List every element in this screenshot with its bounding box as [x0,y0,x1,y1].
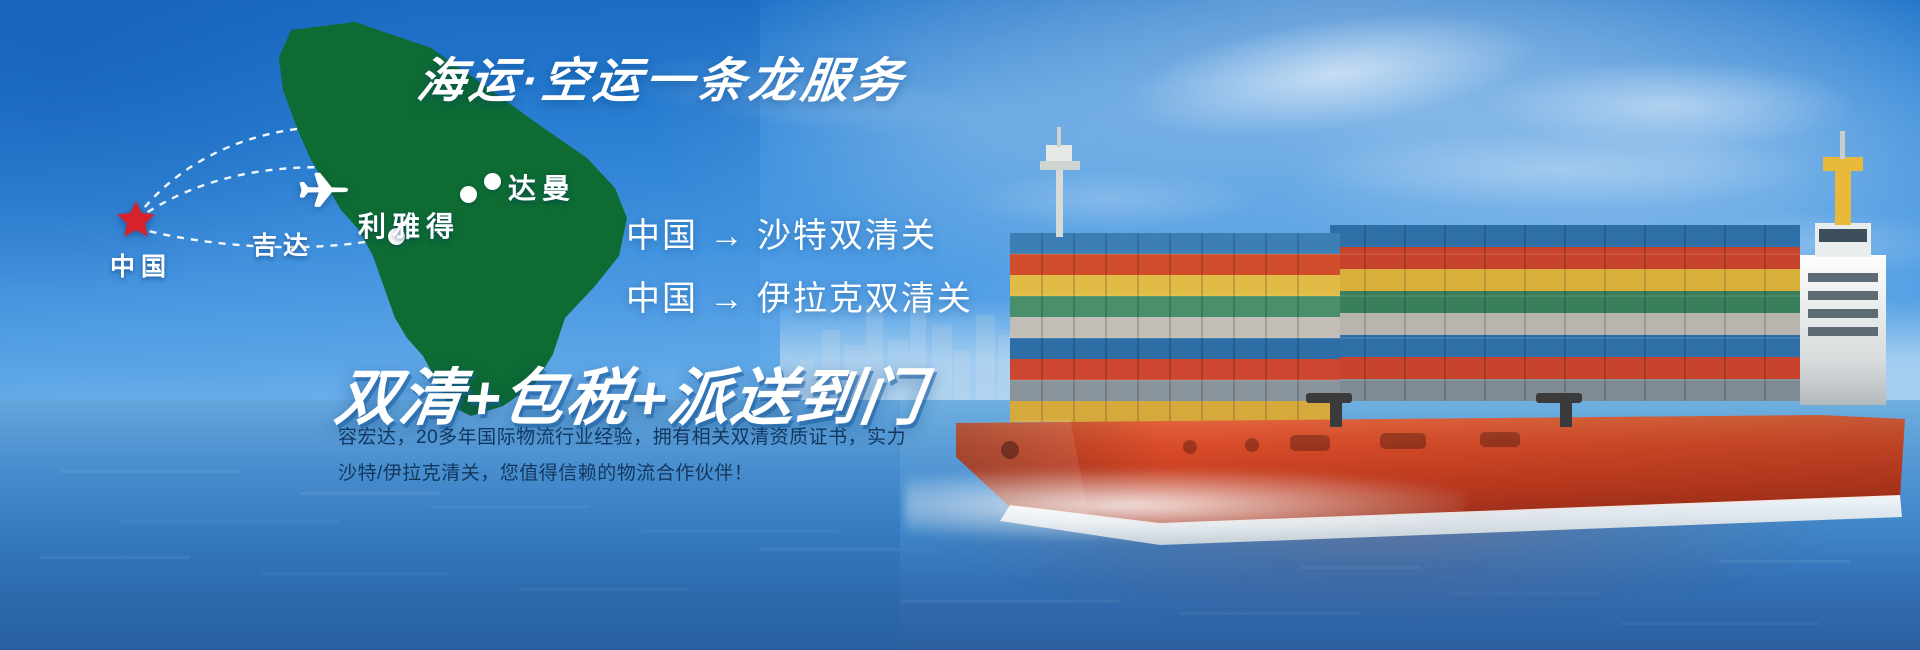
ship-deckhouse [1800,131,1886,405]
map-label-jeddah: 吉达 [252,226,314,262]
service-route-saudi: 中国 → 沙特双清关 [626,208,973,257]
banner-main-title: 海运·空运一条龙服务 [414,41,911,111]
city-dot-dammam [484,173,501,190]
service-route-iraq: 中国 → 伊拉克双清关 [626,271,973,320]
red-star-icon [115,198,157,240]
promo-banner: 中国 吉达 利雅得 达曼 海运·空运一条龙服务 中国 → 沙特双清关 中国 → … [0,0,1920,650]
banner-description: 容宏达，20多年国际物流行业经验，拥有相关双清资质证书，实力沙特/伊拉克清关，您… [338,420,918,492]
map-label-origin-china: 中国 [110,247,172,283]
anchor-hawse [1001,441,1019,459]
service-route-list: 中国 → 沙特双清关 中国 → 伊拉克双清关 [626,208,973,320]
ship-foremast [1040,127,1080,237]
map-label-dammam: 达曼 [508,167,576,207]
container-stack-fore [1010,233,1340,422]
map-label-riyadh: 利雅得 [358,205,460,245]
airplane-icon [290,160,352,222]
city-dot-riyadh [460,186,477,203]
